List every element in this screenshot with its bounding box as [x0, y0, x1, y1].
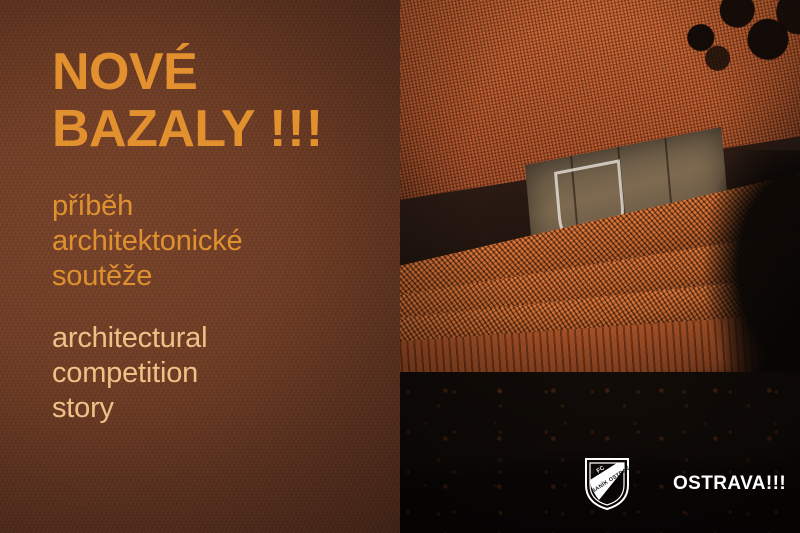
page-title: NOVÉ BAZALY !!!: [52, 47, 382, 155]
facade-shell: [400, 0, 800, 307]
glass-window-strip: [525, 127, 731, 277]
subtitle-english-line-1: architectural: [52, 321, 382, 356]
subtitle-czech: příběh architektonické soutěže: [52, 189, 382, 293]
badge-row: FC BANÍK OSTRAVA OSTRAVA!!!: [583, 456, 786, 512]
ostrava-caption: OSTRAVA!!!: [673, 473, 786, 495]
fc-banik-ostrava-crest-icon: FC BANÍK OSTRAVA: [583, 456, 631, 512]
headline-line-2-wrap: BAZALY !!!: [52, 104, 382, 155]
headline-exclamation: !!!: [269, 100, 324, 158]
window-mullion: [617, 147, 629, 260]
wall-shadow: [400, 354, 800, 446]
poster: NOVÉ BAZALY !!! příběh architektonické s…: [0, 0, 800, 533]
facade-ribbon: [400, 158, 800, 336]
night-sky: [400, 0, 800, 220]
subtitle-czech-line-3: soutěže: [52, 259, 382, 294]
photo-vignette: [400, 0, 800, 533]
facade-ribbon: [400, 268, 800, 364]
facade-ribbon: [400, 218, 800, 351]
facade-shadow-band: [400, 132, 800, 324]
headline-line-1: NOVÉ: [52, 43, 197, 101]
subtitle-czech-line-1: příběh: [52, 189, 382, 224]
headline-line-2: BAZALY: [52, 100, 255, 158]
subtitle-english-line-2: competition: [52, 356, 382, 391]
window-mullion: [570, 156, 582, 269]
facade-perforation-mesh: [400, 0, 800, 307]
stadium-photo: [400, 0, 800, 533]
subtitle-english-line-3: story: [52, 391, 382, 426]
crest-outline-on-glass: [545, 153, 636, 265]
tree-foliage-top: [670, 0, 800, 72]
subtitle-czech-line-2: architektonické: [52, 224, 382, 259]
corten-wall: [400, 308, 800, 440]
text-block: NOVÉ BAZALY !!! příběh architektonické s…: [52, 47, 382, 426]
window-mullion: [664, 138, 676, 251]
subtitle-english: architectural competition story: [52, 321, 382, 425]
